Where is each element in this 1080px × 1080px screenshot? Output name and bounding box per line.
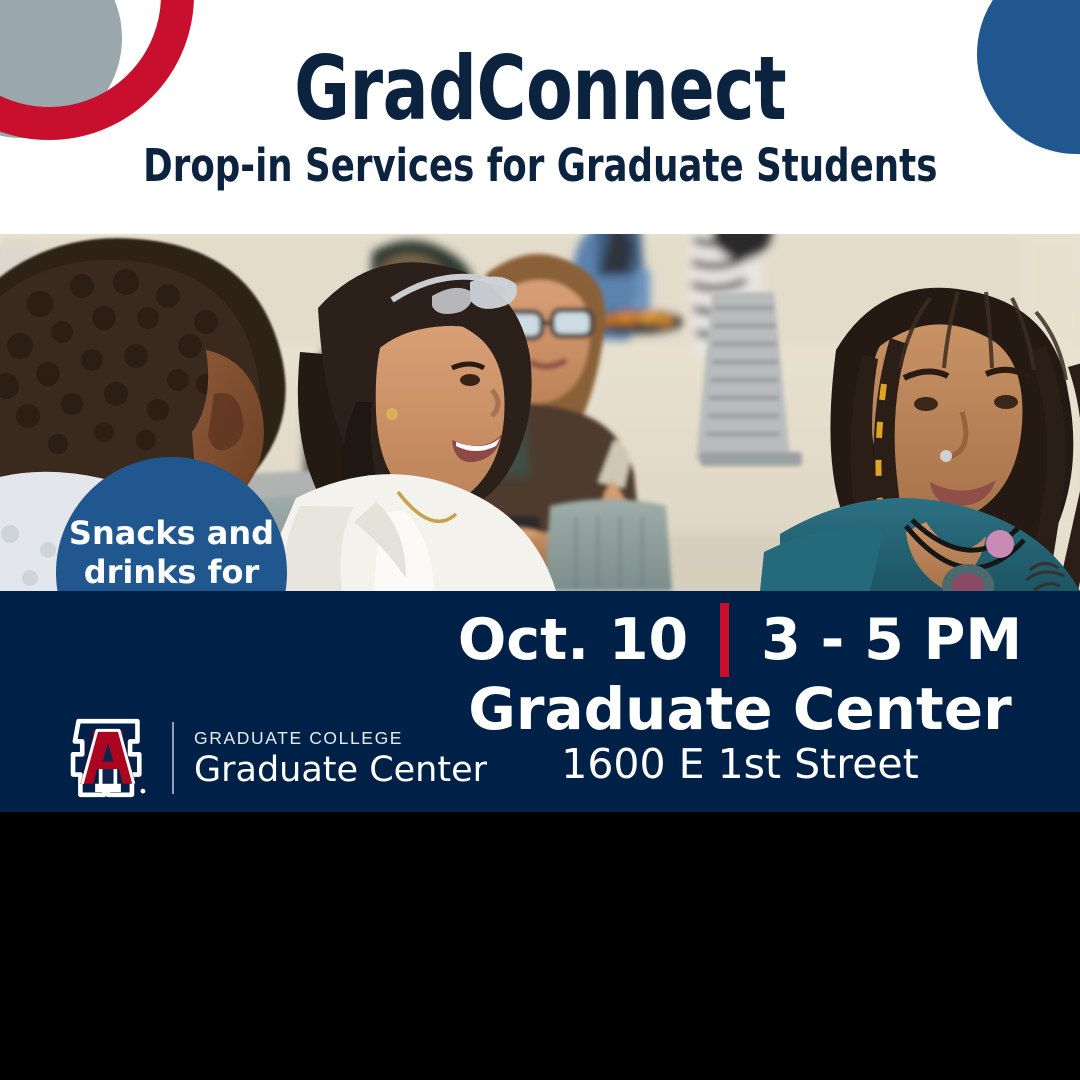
- event-venue: Graduate Center: [468, 679, 1011, 740]
- footer-black-area: [0, 812, 1080, 1080]
- date-time-row: Oct. 10 3 - 5 PM: [458, 605, 1022, 675]
- university-of-arizona-block-a-icon: [62, 712, 154, 804]
- logo-org-bottom: Graduate Center: [194, 752, 487, 789]
- event-details: Oct. 10 3 - 5 PM Graduate Center 1600 E …: [400, 591, 1080, 812]
- logo-wordmark: GRADUATE COLLEGE Graduate Center: [194, 728, 487, 789]
- logo-org-top: GRADUATE COLLEGE: [194, 728, 487, 749]
- page-subtitle: Drop-in Services for Graduate Students: [143, 143, 937, 188]
- event-address: 1600 E 1st Street: [561, 742, 918, 787]
- red-divider: [720, 603, 729, 677]
- event-date: Oct. 10: [458, 612, 720, 669]
- logo-divider: [172, 722, 174, 794]
- page-title: GradConnect: [294, 46, 786, 132]
- header-text-group: GradConnect Drop-in Services for Graduat…: [0, 0, 1080, 234]
- event-time: 3 - 5 PM: [729, 612, 1022, 669]
- header-banner: GradConnect Drop-in Services for Graduat…: [0, 0, 1080, 234]
- flyer-canvas: GradConnect Drop-in Services for Graduat…: [0, 0, 1080, 1080]
- graduate-center-logo: GRADUATE COLLEGE Graduate Center: [62, 712, 487, 804]
